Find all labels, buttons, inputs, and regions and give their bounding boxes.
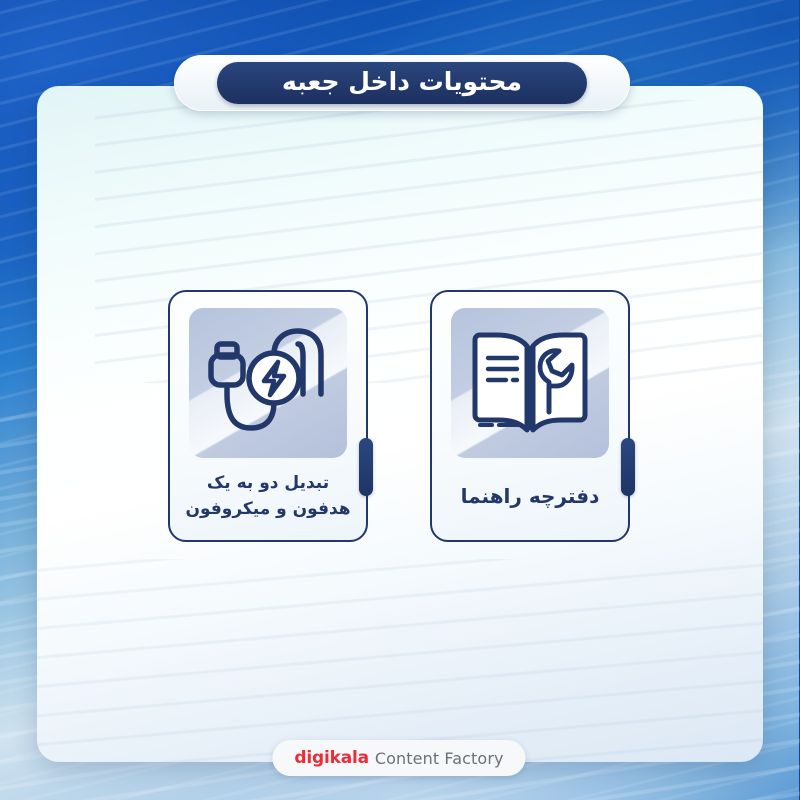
header-banner: محتویات داخل جعبه	[218, 62, 588, 104]
content-item-label: تبدیل دو به یک هدفون و میکروفون	[171, 458, 367, 540]
content-item-label: دفترچه راهنما	[433, 458, 629, 540]
digikala-logo-text: digikala	[295, 748, 369, 768]
label-line-1: دفترچه راهنما	[462, 482, 601, 511]
label-line-2: هدفون و میکروفون	[186, 497, 351, 522]
footer-watermark: digikala Content Factory	[273, 740, 526, 776]
card-accent-bar	[622, 438, 636, 496]
page-title: محتویات داخل جعبه	[283, 69, 523, 97]
content-item-adapter[interactable]: تبدیل دو به یک هدفون و میکروفون	[169, 290, 369, 542]
box-contents-list: تبدیل دو به یک هدفون و میکروفون	[0, 290, 800, 542]
panel-wave-texture-bottom	[38, 559, 764, 762]
label-line-1: تبدیل دو به یک	[208, 471, 330, 496]
cable-adapter-icon	[190, 308, 348, 458]
card-accent-bar	[360, 438, 374, 496]
content-item-manual[interactable]: دفترچه راهنما	[431, 290, 631, 542]
manual-book-wrench-icon	[452, 308, 610, 458]
footer-subtitle: Content Factory	[376, 749, 505, 768]
